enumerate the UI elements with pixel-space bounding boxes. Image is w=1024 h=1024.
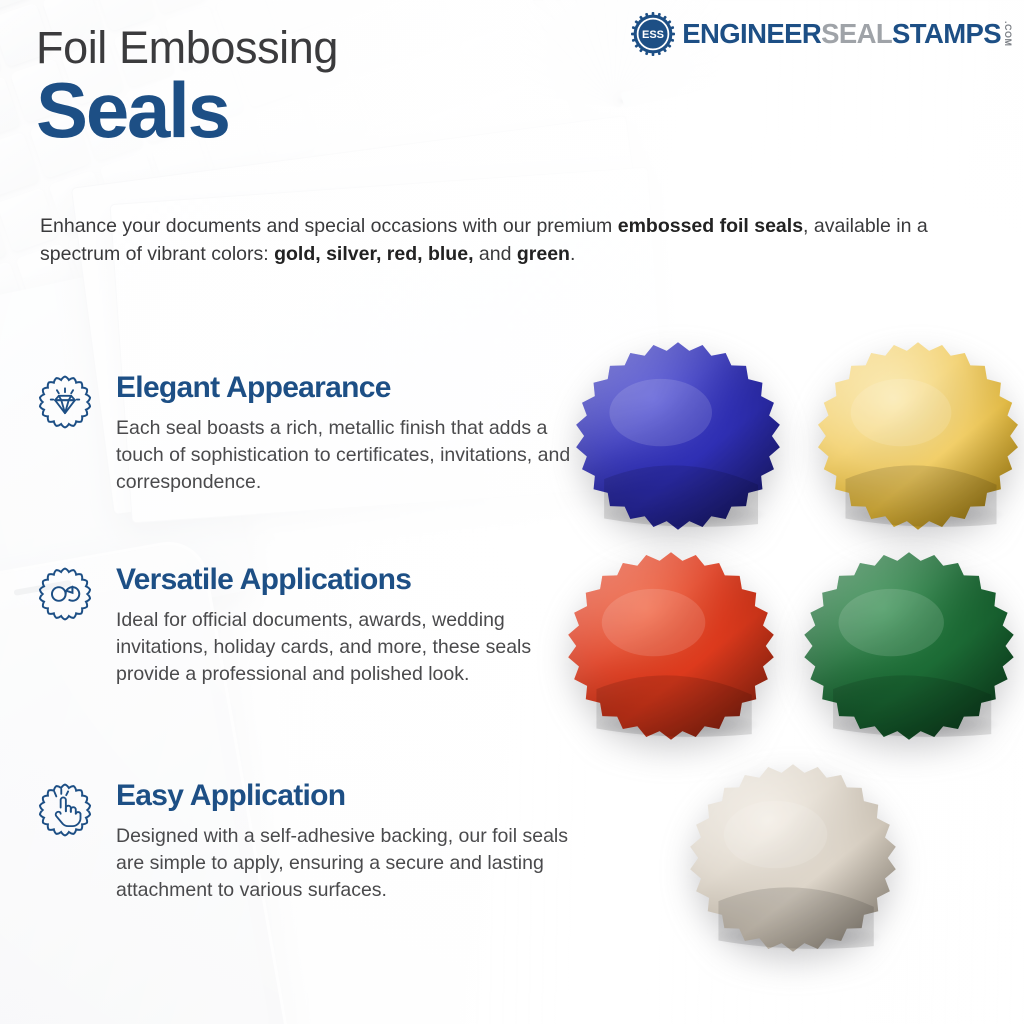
- feature-2-body: Versatile Applications Ideal for officia…: [116, 560, 574, 688]
- feature-1-body: Elegant Appearance Each seal boasts a ri…: [116, 368, 574, 496]
- seal-silver-graphic: [684, 760, 902, 956]
- feature-1-title: Elegant Appearance: [116, 372, 574, 404]
- feature-3-title: Easy Application: [116, 780, 574, 812]
- subtitle-text-4: .: [570, 243, 575, 265]
- diamond-icon: [34, 371, 96, 433]
- seal-green[interactable]: [798, 548, 1020, 744]
- site-logo[interactable]: ESS ENGINEER SEAL STAMPS .COM: [631, 12, 1012, 56]
- feature-elegant-appearance: Elegant Appearance Each seal boasts a ri…: [34, 368, 574, 496]
- infinity-loop-icon: [34, 563, 96, 625]
- wordmark-dotcom: .COM: [1003, 21, 1012, 47]
- title-line-2: Seals: [36, 73, 338, 147]
- page-subtitle: Enhance your documents and special occas…: [40, 213, 930, 268]
- ess-badge-text: ESS: [642, 29, 664, 41]
- subtitle-text-1: Enhance your documents and special occas…: [40, 215, 618, 237]
- seal-silver[interactable]: [684, 760, 902, 956]
- seal-red-graphic: [562, 548, 780, 744]
- seal-blue[interactable]: [570, 338, 786, 534]
- seal-green-graphic: [798, 548, 1020, 744]
- subtitle-bold-seals: embossed foil seals: [618, 215, 803, 237]
- wordmark-engineer: ENGINEER: [682, 20, 821, 48]
- feature-easy-application: Easy Application Designed with a self-ad…: [34, 776, 574, 904]
- subtitle-bold-green: green: [517, 243, 570, 265]
- tap-hand-icon: [34, 779, 96, 841]
- feature-3-description: Designed with a self-adhesive backing, o…: [116, 823, 574, 904]
- seal-gold-graphic: [812, 338, 1024, 534]
- seal-red[interactable]: [562, 548, 780, 744]
- feature-1-description: Each seal boasts a rich, metallic finish…: [116, 415, 574, 496]
- logo-wordmark: ENGINEER SEAL STAMPS .COM: [682, 20, 1012, 48]
- subtitle-text-3: and: [473, 243, 516, 265]
- title-line-1: Foil Embossing: [36, 24, 338, 71]
- seal-gold[interactable]: [812, 338, 1024, 534]
- ess-gear-badge-icon: ESS: [631, 12, 675, 56]
- wordmark-stamps: STAMPS: [892, 20, 1001, 48]
- feature-2-description: Ideal for official documents, awards, we…: [116, 607, 574, 688]
- seal-blue-graphic: [570, 338, 786, 534]
- page-title-block: Foil Embossing Seals: [36, 24, 338, 147]
- feature-versatile-applications: Versatile Applications Ideal for officia…: [34, 560, 574, 688]
- subtitle-bold-colors: gold, silver, red, blue,: [274, 243, 473, 265]
- feature-2-title: Versatile Applications: [116, 564, 574, 596]
- feature-3-body: Easy Application Designed with a self-ad…: [116, 776, 574, 904]
- wordmark-seal: SEAL: [821, 20, 892, 48]
